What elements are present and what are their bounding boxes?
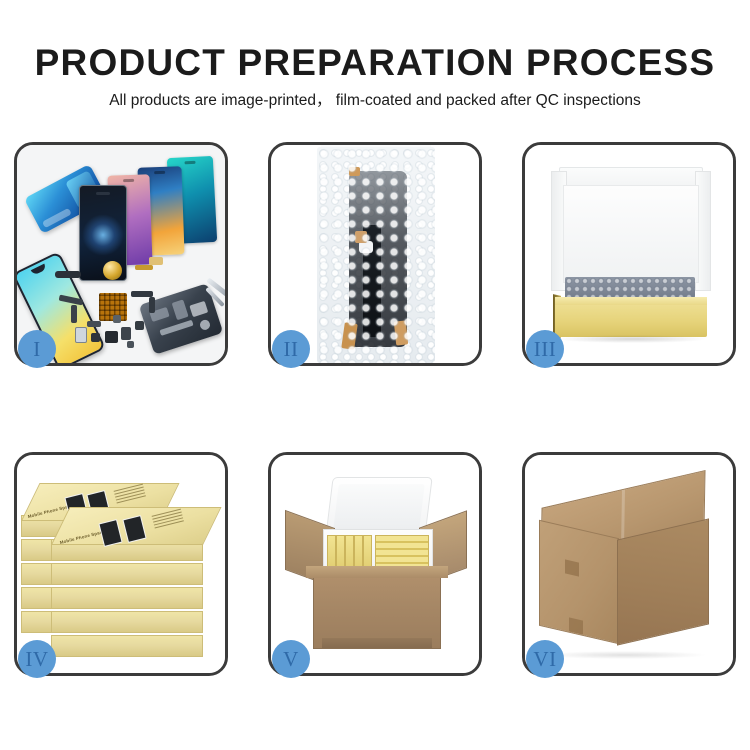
step-4-photo: Mobile Phone Spare Parts [17, 455, 225, 673]
step-badge-4: IV [18, 640, 56, 678]
step-badge-2: II [272, 330, 310, 368]
foam-lining [563, 185, 699, 283]
foam-lid [325, 477, 432, 537]
kraft-box [51, 635, 203, 657]
step-badge-6: VI [526, 640, 564, 678]
step-badge-3: III [526, 330, 564, 368]
product-preparation-infographic: PRODUCT PREPARATION PROCESS All products… [0, 0, 750, 750]
gold-flex-part [135, 265, 153, 270]
housing-detail [189, 301, 208, 317]
drop-shadow [545, 651, 705, 659]
flex-cable-part [71, 305, 77, 323]
step-5-photo [271, 455, 479, 673]
tan-tape-tab [349, 167, 360, 176]
step-1-photo [17, 145, 225, 363]
kraft-box [51, 587, 203, 609]
process-step-grid: Mobile Phone Spare Parts [0, 0, 750, 750]
notch-bar [184, 161, 195, 164]
carton-body [313, 573, 441, 649]
small-component [121, 327, 131, 340]
tan-tape-tab [394, 320, 408, 345]
step-2-photo [271, 145, 479, 363]
step-6-photo [525, 455, 733, 673]
tan-tape-tab [355, 231, 367, 243]
step-3-photo [525, 145, 733, 363]
small-component [91, 333, 100, 342]
carton-right-face [617, 518, 709, 645]
housing-detail [159, 320, 193, 336]
housing-detail [199, 319, 212, 332]
kraft-box [51, 611, 203, 633]
small-component [135, 321, 144, 330]
small-component [75, 327, 87, 343]
step-badge-1: I [18, 330, 56, 368]
housing-detail [172, 299, 189, 320]
small-component [87, 321, 101, 327]
tape-patch [569, 617, 583, 634]
box-stack-front: Mobile Phone Spare Parts [51, 507, 203, 663]
flex-cable-part [149, 297, 155, 313]
step-badge-5: V [272, 640, 310, 678]
drop-shadow [559, 335, 705, 343]
gold-flex-part [149, 257, 163, 265]
kraft-box [51, 563, 203, 585]
notch-bar [123, 179, 134, 182]
notch-bar [154, 171, 165, 174]
gold-speaker-part [103, 261, 122, 280]
battery-connector-part [55, 271, 81, 278]
yellow-box-front [555, 303, 707, 337]
small-component [113, 315, 121, 323]
tape-patch [565, 559, 579, 576]
small-component [127, 341, 134, 348]
small-component [105, 331, 118, 343]
